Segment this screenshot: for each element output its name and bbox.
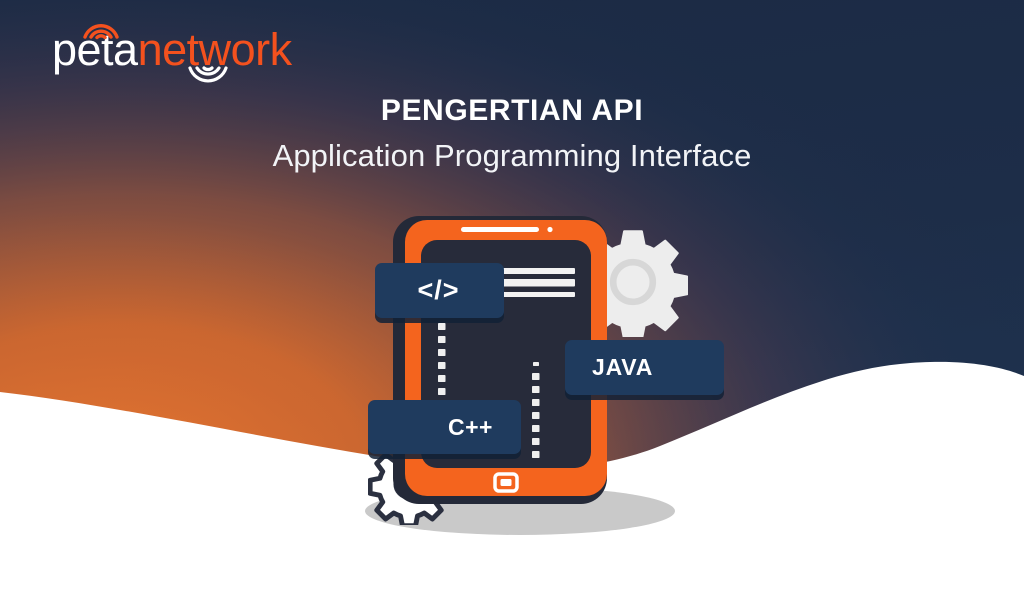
brand-logo-text: petanetwork [52,22,292,78]
page-title: PENGERTIAN API [0,93,1024,129]
speaker-bar-icon [461,227,539,232]
page-subtitle: Application Programming Interface [0,137,1024,175]
badge-java[interactable]: JAVA [565,340,724,395]
badge-java-label: JAVA [592,354,653,381]
smartphone-api-illustration: </> C++ JAVA [340,205,700,545]
badge-cpp-label: C++ [448,414,493,441]
badge-cpp[interactable]: C++ [368,400,521,454]
camera-dot-icon [547,227,552,232]
badge-code-label: </> [417,275,459,306]
brand-logo-peta: peta [52,24,138,75]
badge-code[interactable]: </> [375,263,504,318]
brand-logo[interactable]: petanetwork [52,22,312,84]
title-block: PENGERTIAN API Application Programming I… [0,93,1024,175]
brand-logo-network: network [138,24,292,75]
poster-canvas: petanetwork PENGERTIAN API Application P… [0,0,1024,599]
